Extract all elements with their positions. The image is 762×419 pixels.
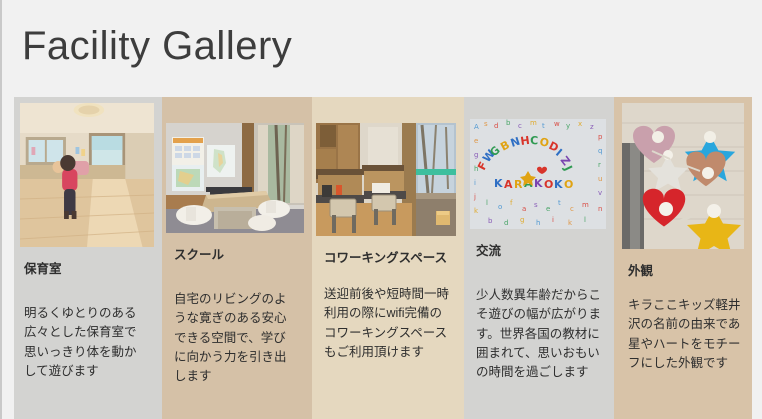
- svg-text:t: t: [558, 199, 561, 207]
- svg-text:w: w: [554, 120, 560, 128]
- svg-text:o: o: [498, 203, 502, 211]
- card-body: 少人数異年齢だからこそ遊びの幅が広がります。世界各国の教材に囲まれて、思いおもい…: [464, 286, 614, 383]
- photo-exterior[interactable]: [622, 103, 744, 249]
- svg-text:c: c: [518, 122, 522, 130]
- svg-text:l: l: [584, 216, 586, 224]
- card-title: 保育室: [14, 261, 162, 278]
- svg-text:h: h: [536, 219, 540, 227]
- svg-text:t: t: [542, 122, 545, 130]
- svg-text:x: x: [578, 120, 582, 128]
- school-image: [166, 123, 304, 233]
- svg-text:y: y: [566, 122, 570, 130]
- gallery-card-nursery-room[interactable]: 保育室 明るくゆとりのある広々とした保育室で思いっきり体を動かして遊びます: [14, 97, 162, 419]
- gallery-grid: 保育室 明るくゆとりのある広々とした保育室で思いっきり体を動かして遊びます: [14, 97, 752, 419]
- photo-container: [312, 97, 464, 236]
- svg-text:v: v: [598, 189, 602, 197]
- svg-text:z: z: [590, 123, 594, 131]
- svg-text:i: i: [474, 179, 476, 187]
- gallery-card-coworking-space[interactable]: コワーキングスペース 送迎前後や短時間一時利用の際にwifi完備のコワーキングス…: [312, 97, 464, 419]
- page-title: Facility Gallery: [2, 0, 762, 70]
- svg-text:A: A: [504, 178, 513, 191]
- photo-container: F W G B N H C O D I Z J: [464, 97, 614, 229]
- svg-text:l: l: [486, 199, 488, 207]
- svg-text:j: j: [473, 193, 476, 201]
- svg-text:K: K: [534, 177, 543, 190]
- photo-school[interactable]: [166, 123, 304, 233]
- gallery-card-school[interactable]: スクール 自宅のリビングのような寛ぎのある安心できる空間で、学びに向かう力を引き…: [162, 97, 312, 419]
- svg-text:s: s: [534, 201, 538, 209]
- card-body: 自宅のリビングのような寛ぎのある安心できる空間で、学びに向かう力を引き出します: [162, 290, 312, 387]
- svg-text:u: u: [598, 175, 602, 183]
- card-body: 送迎前後や短時間一時利用の際にwifi完備のコワーキングスペースもご利用頂けます: [312, 285, 464, 363]
- svg-text:e: e: [546, 205, 550, 213]
- photo-coworking-space[interactable]: [316, 123, 456, 236]
- photo-container: [614, 97, 752, 249]
- svg-text:A: A: [474, 123, 479, 131]
- photo-container: [14, 97, 162, 247]
- photo-nursery-room[interactable]: [20, 103, 154, 247]
- svg-text:m: m: [582, 201, 589, 209]
- card-body: 明るくゆとりのある広々とした保育室で思いっきり体を動かして遊びます: [14, 304, 162, 382]
- svg-text:d: d: [504, 219, 508, 227]
- card-title: 交流: [464, 243, 614, 260]
- gallery-card-exterior[interactable]: 外観 キラここキッズ軽井沢の名前の由来であ星やハートをモチーフにした外観です: [614, 97, 752, 419]
- card-body: キラここキッズ軽井沢の名前の由来であ星やハートをモチーフにした外観です: [614, 296, 752, 374]
- svg-text:s: s: [484, 120, 488, 128]
- photo-container: [162, 97, 312, 233]
- exchange-image: F W G B N H C O D I Z J: [470, 119, 606, 229]
- svg-text:K: K: [554, 178, 563, 191]
- svg-text:d: d: [494, 122, 498, 130]
- svg-text:m: m: [530, 119, 537, 127]
- svg-text:O: O: [564, 178, 573, 191]
- gallery-card-exchange[interactable]: F W G B N H C O D I Z J: [464, 97, 614, 419]
- svg-text:g: g: [520, 216, 524, 224]
- card-title: スクール: [162, 247, 312, 264]
- svg-text:c: c: [570, 205, 574, 213]
- nursery-room-image: [20, 103, 154, 247]
- photo-exchange[interactable]: F W G B N H C O D I Z J: [470, 119, 606, 229]
- svg-text:K: K: [494, 177, 503, 190]
- coworking-space-image: [316, 123, 456, 236]
- svg-text:n: n: [598, 205, 602, 213]
- svg-text:r: r: [598, 161, 601, 169]
- card-title: コワーキングスペース: [312, 250, 464, 267]
- svg-text:O: O: [544, 178, 553, 191]
- svg-text:p: p: [598, 133, 603, 141]
- svg-text:i: i: [552, 216, 554, 224]
- svg-text:H: H: [520, 134, 531, 148]
- svg-text:g: g: [474, 151, 478, 159]
- svg-text:C: C: [530, 134, 539, 147]
- exterior-image: [622, 103, 744, 249]
- svg-text:b: b: [488, 217, 493, 225]
- svg-text:R: R: [514, 178, 523, 191]
- svg-text:h: h: [474, 165, 478, 173]
- facility-gallery-page: Facility Gallery: [0, 0, 762, 419]
- svg-text:b: b: [506, 119, 511, 127]
- svg-text:a: a: [522, 205, 526, 213]
- svg-text:e: e: [474, 137, 478, 145]
- card-title: 外観: [614, 263, 752, 280]
- svg-text:q: q: [598, 147, 602, 155]
